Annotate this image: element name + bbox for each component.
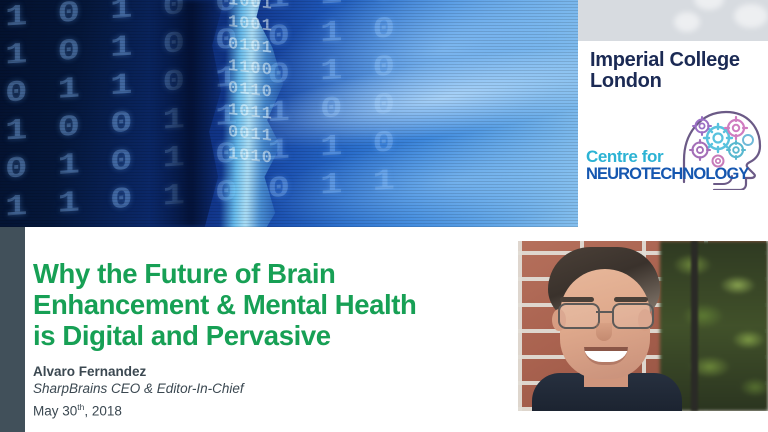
pole [691,241,698,411]
institution-line-2: London [590,71,766,92]
date-prefix: May 30 [33,403,77,418]
presentation-date: May 30th, 2018 [33,398,333,421]
eyebrow-right [614,297,648,302]
logo-panel: Imperial College London [578,0,768,227]
centre-line-2: NEUROTECHNOLOGY [586,165,702,183]
date-year: , 2018 [84,403,122,418]
lens-left [558,303,600,329]
page-title: Why the Future of Brain Enhancement & Me… [33,258,503,351]
light-blob [694,0,724,10]
title-line-2: Enhancement & Mental Health [33,289,416,320]
speaker-headshot-photo [518,241,768,411]
byline: Alvaro Fernandez SharpBrains CEO & Edito… [33,363,333,420]
institution-line-1: Imperial College [590,50,766,71]
title-line-1: Why the Future of Brain [33,258,335,289]
banner-scanlines [0,0,578,227]
light-blob [674,12,700,32]
presenter-role: SharpBrains CEO & Editor-In-Chief [33,380,333,398]
title-line-3: is Digital and Pervasive [33,320,331,351]
presentation-slide: 1 0 1 0 0 1 1 0 1 0 1 1 0 1 0 1 0 0 0 1 … [0,0,768,432]
person-figure [526,247,684,411]
centre-for-neurotechnology-wordmark: Centre for NEUROTECHNOLOGY [586,148,702,183]
gray-header-band [578,0,768,41]
imperial-college-wordmark: Imperial College London [590,50,766,92]
centre-line-1: Centre for [586,148,702,165]
binary-code-face-image: 1 0 1 0 0 1 1 0 1 0 1 1 0 1 0 1 0 0 0 1 … [0,0,578,227]
nose [596,323,612,341]
glasses-bridge [596,311,612,313]
eyebrow-left [560,297,594,302]
eyeglasses [556,303,654,325]
lens-right [612,303,654,329]
presenter-name: Alvaro Fernandez [33,363,333,380]
left-accent-strip [0,227,25,432]
light-blob [734,4,768,28]
